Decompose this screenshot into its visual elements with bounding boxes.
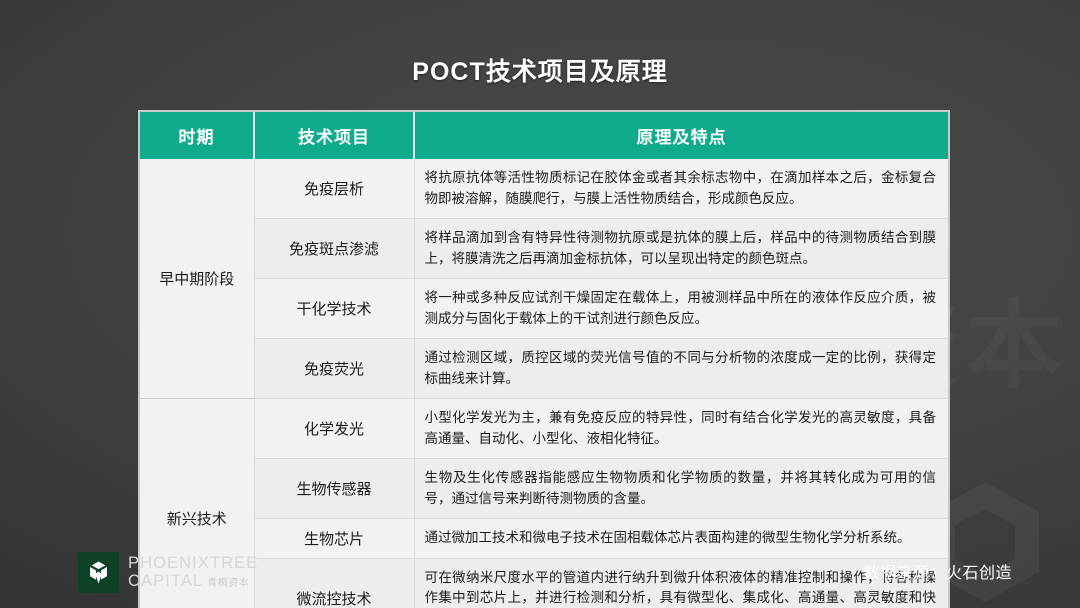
brand-name-capital: CAPITAL bbox=[128, 573, 203, 590]
slide-root: 青桐资本 POCT技术项目及原理 时期 技术项目 原理及特点 早 bbox=[0, 0, 1080, 608]
principle-cell: 生物及生化传感器指能感应生物物质和化学物质的数量，并将其转化成为可用的信号，通过… bbox=[414, 459, 948, 519]
poct-table: 时期 技术项目 原理及特点 早中期阶段 免疫层析 将抗原抗体等活性物质标记在胶体… bbox=[140, 112, 948, 608]
table-header: 时期 技术项目 原理及特点 bbox=[140, 112, 948, 159]
table-header-row: 时期 技术项目 原理及特点 bbox=[140, 112, 948, 159]
principle-cell: 将样品滴加到含有特异性待测物抗原或是抗体的膜上后，样品中的待测物质结合到膜上，将… bbox=[414, 219, 948, 279]
table-row: 新兴技术 化学发光 小型化学发光为主，兼有免疫反应的特异性，同时有结合化学发光的… bbox=[140, 399, 948, 459]
page-title: POCT技术项目及原理 bbox=[0, 52, 1080, 88]
technology-cell: 生物传感器 bbox=[254, 459, 414, 519]
phoenixtree-cube-icon bbox=[78, 552, 119, 593]
slide-footer: PHOENIXTREE CAPITAL 青桐资本 数据来源：火石创造 bbox=[0, 536, 1080, 608]
column-header-technology: 技术项目 bbox=[254, 112, 414, 159]
table-row: 干化学技术 将一种或多种反应试剂干燥固定在载体上，用被测样品中所在的液体作反应介… bbox=[140, 279, 948, 339]
brand-name-line1: PHOENIXTREE bbox=[128, 555, 258, 572]
table-row: 早中期阶段 免疫层析 将抗原抗体等活性物质标记在胶体金或者其余标志物中，在滴加样… bbox=[140, 159, 948, 219]
brand-name-line2: CAPITAL 青桐资本 bbox=[128, 573, 258, 590]
technology-cell: 干化学技术 bbox=[254, 279, 414, 339]
data-source-label: 数据来源：火石创造 bbox=[863, 559, 1012, 583]
principle-cell: 将抗原抗体等活性物质标记在胶体金或者其余标志物中，在滴加样本之后，金标复合物即被… bbox=[414, 159, 948, 219]
brand-logo: PHOENIXTREE CAPITAL 青桐资本 bbox=[78, 552, 258, 593]
technology-cell: 免疫斑点渗滤 bbox=[254, 219, 414, 279]
principle-cell: 将一种或多种反应试剂干燥固定在载体上，用被测样品中所在的液体作反应介质，被测成分… bbox=[414, 279, 948, 339]
brand-logo-text: PHOENIXTREE CAPITAL 青桐资本 bbox=[128, 555, 258, 589]
principle-cell: 通过检测区域，质控区域的荧光信号值的不同与分析物的浓度成一定的比例，获得定标曲线… bbox=[414, 339, 948, 399]
poct-table-container: 时期 技术项目 原理及特点 早中期阶段 免疫层析 将抗原抗体等活性物质标记在胶体… bbox=[138, 110, 950, 608]
column-header-period: 时期 bbox=[140, 112, 254, 159]
period-cell-early-mid: 早中期阶段 bbox=[140, 159, 254, 399]
table-row: 免疫荧光 通过检测区域，质控区域的荧光信号值的不同与分析物的浓度成一定的比例，获… bbox=[140, 339, 948, 399]
table-row: 免疫斑点渗滤 将样品滴加到含有特异性待测物抗原或是抗体的膜上后，样品中的待测物质… bbox=[140, 219, 948, 279]
principle-cell: 小型化学发光为主，兼有免疫反应的特异性，同时有结合化学发光的高灵敏度，具备高通量… bbox=[414, 399, 948, 459]
technology-cell: 免疫荧光 bbox=[254, 339, 414, 399]
technology-cell: 免疫层析 bbox=[254, 159, 414, 219]
column-header-principle: 原理及特点 bbox=[414, 112, 948, 159]
brand-name-chinese: 青桐资本 bbox=[207, 579, 249, 589]
technology-cell: 化学发光 bbox=[254, 399, 414, 459]
table-row: 生物传感器 生物及生化传感器指能感应生物物质和化学物质的数量，并将其转化成为可用… bbox=[140, 459, 948, 519]
